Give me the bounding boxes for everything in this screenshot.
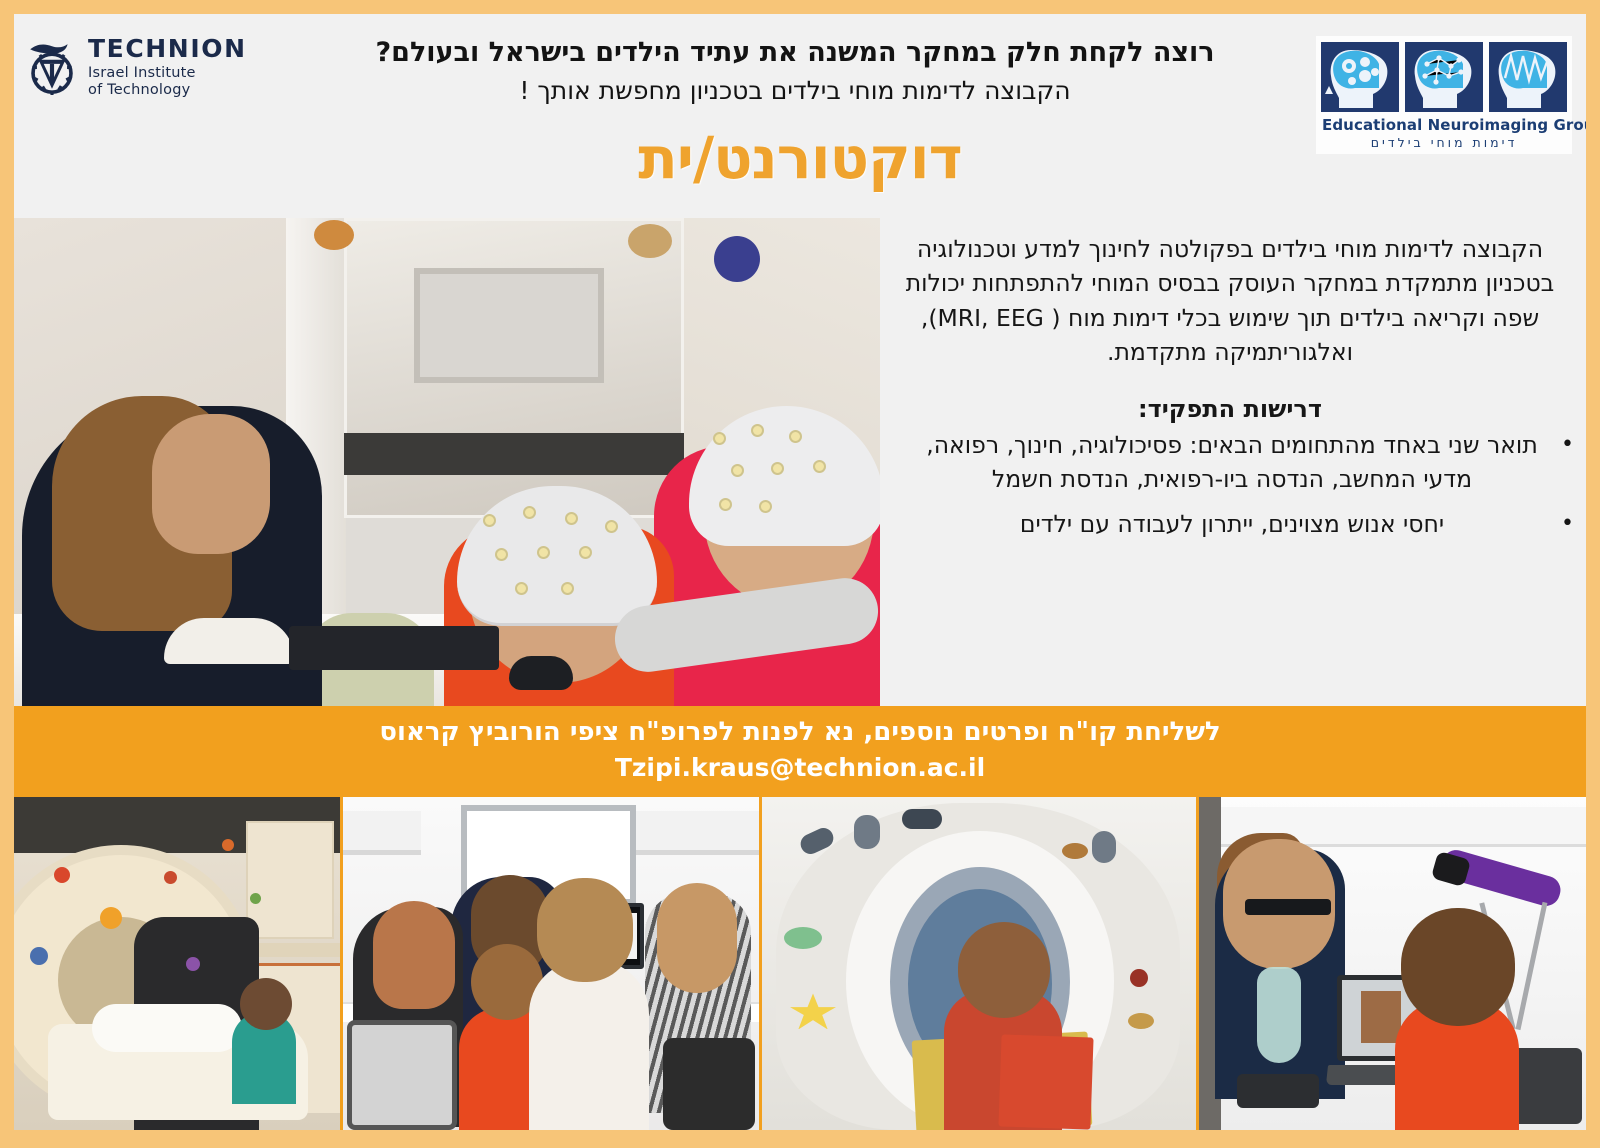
technion-name: TECHNION [88,36,247,63]
photo-strip [14,797,1586,1130]
photo-researcher-and-child-at-laptop-with-telescope [1199,797,1586,1130]
technion-wordmark: TECHNION Israel Institute of Technology [88,36,247,100]
technion-subtitle: Israel Institute of Technology [88,65,247,100]
eng-logo-title-en: Educational Neuroimaging Group [1322,116,1566,134]
main-content: הקבוצה לדימות מוחי בילדים בפקולטה לחינוך… [14,218,1586,706]
contact-email[interactable]: Tzipi.kraus@technion.ac.il [14,752,1586,783]
eng-logo-icons [1322,42,1566,112]
eng-logo-title-he: דימות מוחי בילדים [1322,135,1566,150]
poster-root: TECHNION Israel Institute of Technology … [0,0,1600,1148]
header-headlines: רוצה לקחת חלק במחקר המשנה את עתיד הילדים… [294,36,1296,107]
technion-logo: TECHNION Israel Institute of Technology [26,36,247,100]
headline-secondary: הקבוצה לדימות מוחי בילדים בטכניון מחפשת … [294,74,1296,107]
contact-instruction: לשליחת קו"ח ופרטים נוספים, נא לפנות לפרו… [14,717,1586,748]
photo-child-reading-book-inside-mri-bore [762,797,1196,1130]
technion-emblem-icon [26,41,78,95]
photo-lab-team-viewing-brain-scan-on-monitor [343,797,759,1130]
list-item: תואר שני באחד מהתחומים הבאים: פסיכולוגיה… [902,429,1558,496]
hero-photo [14,218,880,706]
contact-banner: לשליחת קו"ח ופרטים נוספים, נא לפנות לפרו… [14,706,1586,797]
requirements-list: תואר שני באחד מהתחומים הבאים: פסיכולוגיה… [902,429,1558,541]
poster-header: TECHNION Israel Institute of Technology … [14,14,1586,218]
head-network-brain-icon [1405,42,1483,112]
requirements-heading: דרישות התפקיד: [902,395,1558,423]
text-column: הקבוצה לדימות מוחי בילדים בפקולטה לחינוך… [880,218,1586,706]
head-waveform-brain-icon [1489,42,1567,112]
educational-neuroimaging-group-logo: Educational Neuroimaging Group דימות מוח… [1316,36,1572,154]
technion-subtitle-line2: of Technology [88,82,247,100]
head-gears-brain-icon [1321,42,1399,112]
poster-sheet: TECHNION Israel Institute of Technology … [14,14,1586,1130]
headline-primary: רוצה לקחת חלק במחקר המשנה את עתיד הילדים… [294,36,1296,71]
list-item: יחסי אנוש מצוינים, ייתרון לעבודה עם ילדי… [902,508,1558,541]
intro-paragraph: הקבוצה לדימות מוחי בילדים בפקולטה לחינוך… [902,232,1558,369]
photo-mri-room-child-on-scanner-bed [14,797,340,1130]
technion-subtitle-line1: Israel Institute [88,65,247,83]
